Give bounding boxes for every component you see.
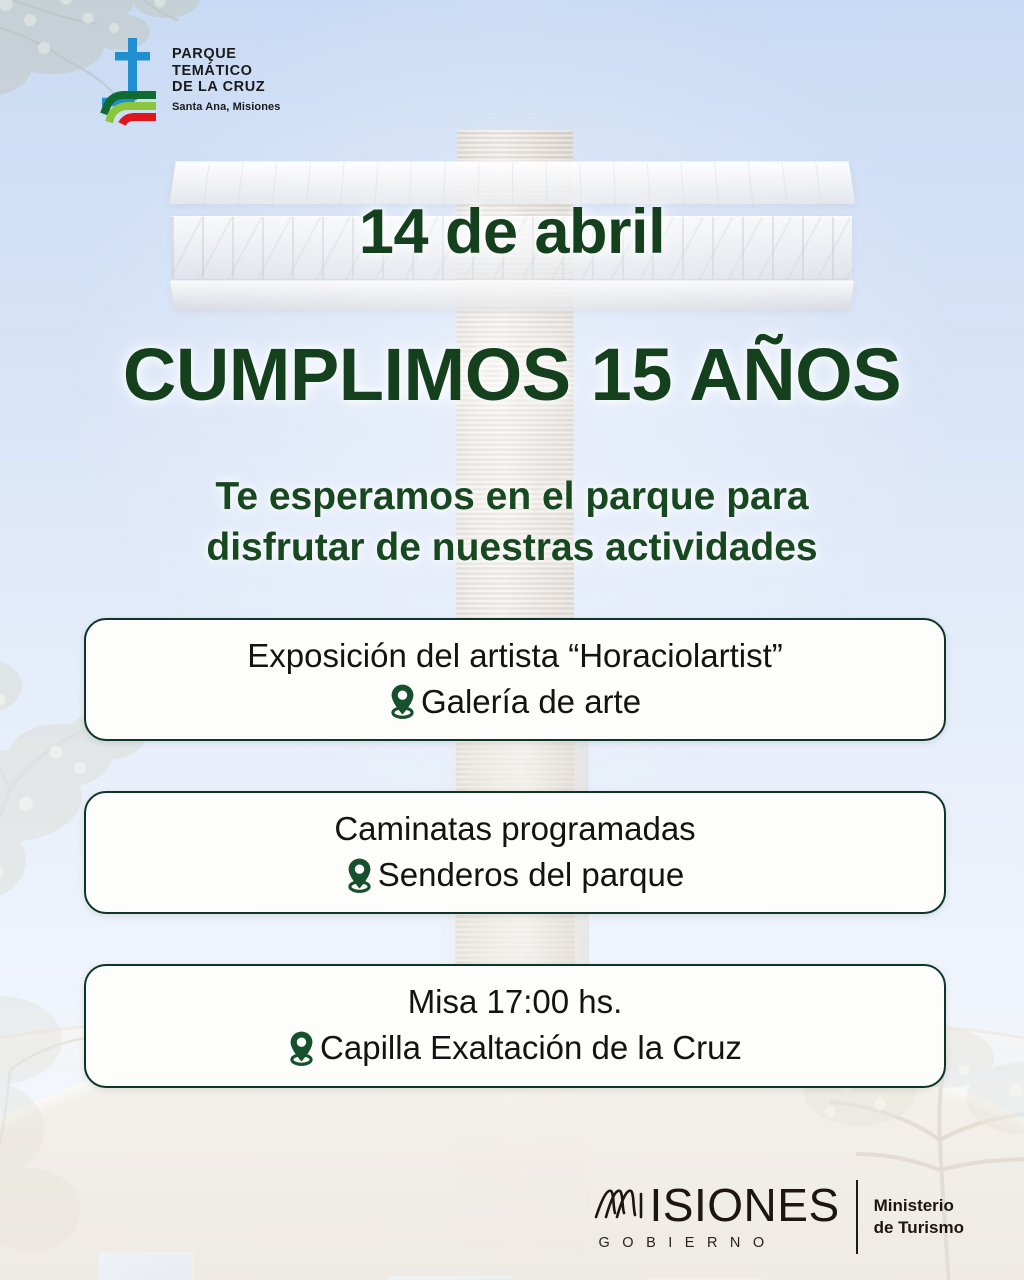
park-logo: PARQUE TEMÁTICO DE LA CRUZ Santa Ana, Mi… bbox=[98, 36, 280, 128]
ministry-line1: Ministerio bbox=[874, 1195, 964, 1217]
location-pin-icon bbox=[346, 857, 373, 893]
activities-list: Exposición del artista “Horaciolartist” … bbox=[84, 618, 946, 1138]
activity-location: Galería de arte bbox=[110, 682, 920, 722]
misiones-wordmark: ISIONES bbox=[593, 1183, 840, 1227]
activity-location: Capilla Exaltación de la Cruz bbox=[110, 1028, 920, 1068]
location-pin-icon bbox=[389, 683, 416, 719]
parque-tematico-cruz-logo-icon bbox=[98, 36, 164, 128]
activity-title: Caminatas programadas bbox=[110, 809, 920, 849]
subtitle-line1: Te esperamos en el parque para bbox=[0, 472, 1024, 523]
headline-anniversary: CUMPLIMOS 15 AÑOS bbox=[0, 332, 1024, 417]
poster-content: PARQUE TEMÁTICO DE LA CRUZ Santa Ana, Mi… bbox=[0, 0, 1024, 1280]
subtitle-line2: disfrutar de nuestras actividades bbox=[0, 523, 1024, 574]
headline-date: 14 de abril bbox=[0, 196, 1024, 268]
activity-title: Misa 17:00 hs. bbox=[110, 982, 920, 1022]
government-logo: ISIONES GOBIERNO Ministerio de Turismo bbox=[593, 1180, 964, 1254]
activity-location-label: Capilla Exaltación de la Cruz bbox=[320, 1028, 742, 1068]
misiones-m-icon bbox=[593, 1183, 649, 1221]
activity-location-label: Galería de arte bbox=[421, 682, 641, 722]
activity-title: Exposición del artista “Horaciolartist” bbox=[110, 636, 920, 676]
logo-divider bbox=[856, 1180, 858, 1254]
activity-card[interactable]: Caminatas programadas Senderos del parqu… bbox=[84, 791, 946, 914]
location-pin-icon bbox=[288, 1030, 315, 1066]
ministry-block: Ministerio de Turismo bbox=[874, 1195, 964, 1239]
misiones-text: ISIONES bbox=[650, 1183, 840, 1227]
park-logo-line2: TEMÁTICO bbox=[172, 63, 280, 80]
activity-card[interactable]: Exposición del artista “Horaciolartist” … bbox=[84, 618, 946, 741]
park-logo-line3: DE LA CRUZ bbox=[172, 79, 280, 96]
gobierno-text: GOBIERNO bbox=[593, 1235, 840, 1251]
park-logo-location: Santa Ana, Misiones bbox=[172, 101, 280, 114]
activity-location-label: Senderos del parque bbox=[378, 855, 684, 895]
activity-location: Senderos del parque bbox=[110, 855, 920, 895]
poster-root: PARQUE TEMÁTICO DE LA CRUZ Santa Ana, Mi… bbox=[0, 0, 1024, 1280]
subtitle: Te esperamos en el parque para disfrutar… bbox=[0, 472, 1024, 573]
park-logo-line1: PARQUE bbox=[172, 46, 280, 63]
misiones-gobierno-block: ISIONES GOBIERNO bbox=[593, 1183, 840, 1250]
activity-card[interactable]: Misa 17:00 hs. Capilla Exaltación de la … bbox=[84, 964, 946, 1087]
park-logo-text: PARQUE TEMÁTICO DE LA CRUZ Santa Ana, Mi… bbox=[172, 36, 280, 113]
ministry-line2: de Turismo bbox=[874, 1217, 964, 1239]
